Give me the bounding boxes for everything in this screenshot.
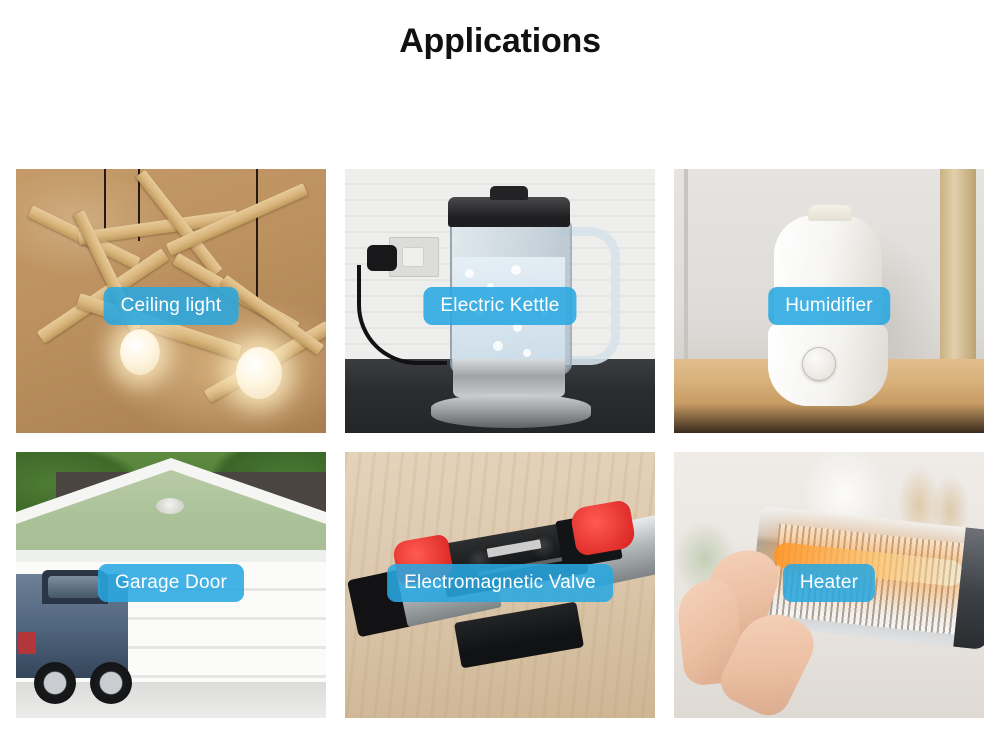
tile-label-garage-door: Garage Door [98,564,244,602]
tile-label-electromagnetic-valve: Electromagnetic Valve [387,564,613,602]
application-tile-electromagnetic-valve[interactable]: Electromagnetic Valve [345,452,655,718]
application-tile-humidifier[interactable]: Humidifier [674,169,984,433]
applications-page: Applications Ceiling [0,0,1000,755]
application-tile-electric-kettle[interactable]: Electric Kettle [345,169,655,433]
application-tile-garage-door[interactable]: Garage Door [16,452,326,718]
tile-label-humidifier: Humidifier [768,287,890,325]
application-tile-heater[interactable]: Heater [674,452,984,718]
tile-label-ceiling-light: Ceiling light [104,287,239,325]
applications-grid: Ceiling light [16,169,984,718]
tile-label-electric-kettle: Electric Kettle [423,287,576,325]
tile-label-heater: Heater [783,564,875,602]
application-tile-ceiling-light[interactable]: Ceiling light [16,169,326,433]
page-title: Applications [0,22,1000,61]
